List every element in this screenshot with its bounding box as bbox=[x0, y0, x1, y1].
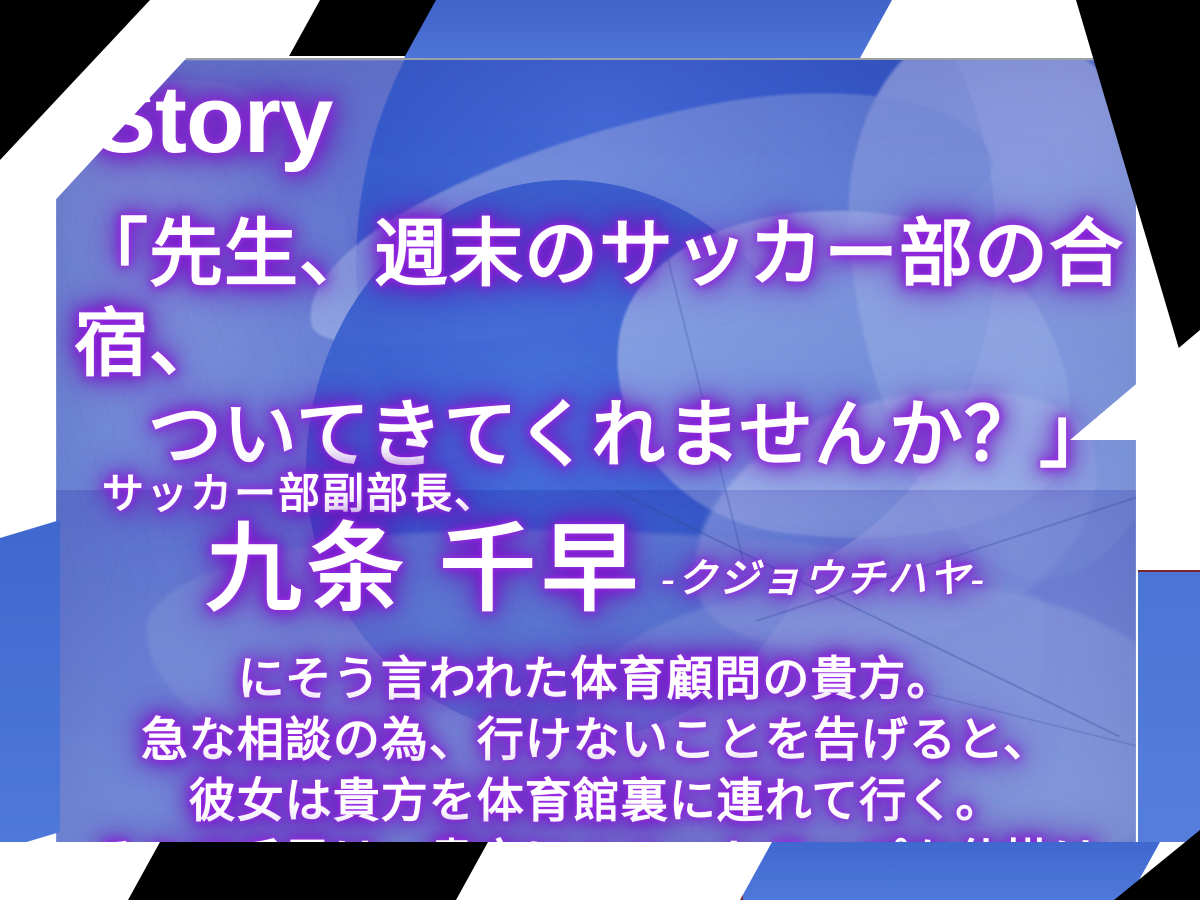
character-quote: 「先生、週末のサッカー部の合宿、 ついてきてくれませんか？」 bbox=[56, 210, 1136, 481]
frame-bottom-black-shape bbox=[128, 842, 488, 900]
story-line-1: にそう言われた体育顧問の貴方。 bbox=[56, 650, 1136, 711]
story-content: Story 「先生、週末のサッカー部の合宿、 ついてきてくれませんか？」 サッカ… bbox=[56, 60, 1136, 844]
story-panel: Story 「先生、週末のサッカー部の合宿、 ついてきてくれませんか？」 サッカ… bbox=[56, 58, 1136, 844]
character-name-reading: -クジョウチハヤ- bbox=[662, 546, 987, 618]
story-description: にそう言われた体育顧問の貴方。 急な相談の為、行けないことを告げると、 彼女は貴… bbox=[56, 650, 1136, 844]
character-name-row: 九条 千早 -クジョウチハヤ- bbox=[56, 522, 1136, 618]
story-line-2: 急な相談の為、行けないことを告げると、 bbox=[56, 711, 1136, 772]
frame-top-blue-bar bbox=[404, 0, 904, 58]
quote-line-1: 「先生、週末のサッカー部の合宿、 bbox=[56, 210, 1136, 391]
story-line-3: 彼女は貴方を体育館裏に連れて行く。 bbox=[56, 772, 1136, 833]
decorative-frame: Story 「先生、週末のサッカー部の合宿、 ついてきてくれませんか？」 サッカ… bbox=[0, 0, 1200, 900]
character-role: サッカー部副部長、 bbox=[102, 460, 498, 521]
character-name: 九条 千早 bbox=[206, 522, 644, 618]
frame-left-blue-shape bbox=[0, 520, 60, 850]
frame-bottom-blue-shape bbox=[740, 842, 1163, 900]
